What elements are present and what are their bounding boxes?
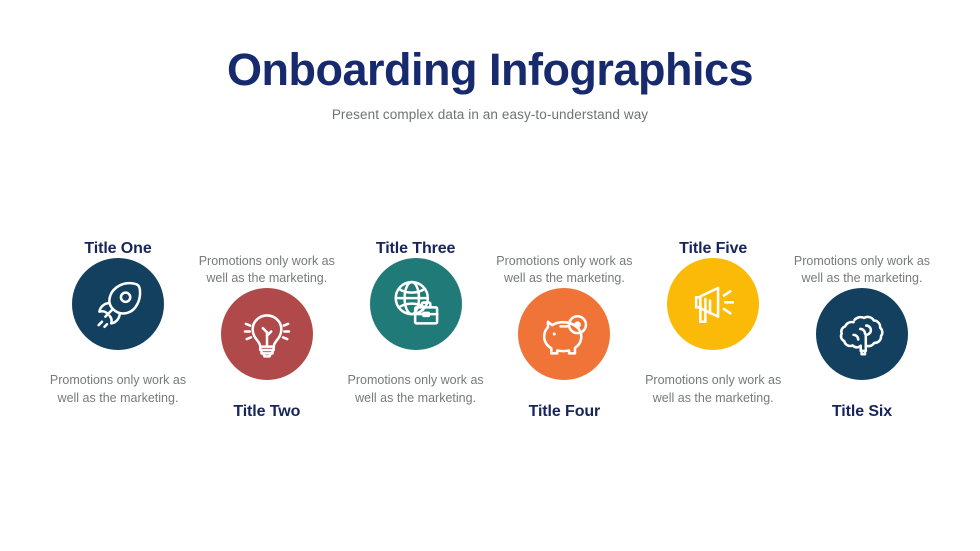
item-2-icon-circle[interactable]	[221, 288, 313, 380]
item-2-title: Title Two	[233, 402, 300, 421]
item-3-icon-circle-wrap	[346, 258, 486, 350]
item-3-top-slot: Title Three	[346, 196, 486, 258]
infographic-item-1[interactable]: Title One Promotions only work as well a…	[48, 196, 188, 486]
piggy-bank-icon	[537, 307, 591, 361]
item-4-icon-circle-wrap	[494, 288, 634, 380]
item-3-bottom-slot: Promotions only work as well as the mark…	[346, 350, 486, 454]
slide-header: Onboarding Infographics Present complex …	[0, 46, 980, 122]
item-5-bottom-slot: Promotions only work as well as the mark…	[643, 350, 783, 454]
item-3-icon-circle[interactable]	[370, 258, 462, 350]
infographic-item-6[interactable]: Promotions only work as well as the mark…	[792, 196, 932, 486]
item-5-title: Title Five	[679, 239, 747, 258]
item-2-bottom-slot: Title Two	[197, 380, 337, 484]
brain-icon	[835, 307, 889, 361]
infographic-item-2[interactable]: Promotions only work as well as the mark…	[197, 196, 337, 486]
item-6-title: Title Six	[832, 402, 892, 421]
item-4-description: Promotions only work as well as the mark…	[494, 253, 634, 289]
lightbulb-icon	[240, 307, 294, 361]
page-subtitle: Present complex data in an easy-to-under…	[0, 107, 980, 122]
rocket-icon	[91, 277, 145, 331]
item-1-description: Promotions only work as well as the mark…	[48, 372, 188, 408]
item-1-icon-circle[interactable]	[72, 258, 164, 350]
item-1-bottom-slot: Promotions only work as well as the mark…	[48, 350, 188, 454]
megaphone-icon	[686, 277, 740, 331]
item-6-description: Promotions only work as well as the mark…	[792, 253, 932, 289]
item-6-top-slot: Promotions only work as well as the mark…	[792, 196, 932, 288]
item-4-bottom-slot: Title Four	[494, 380, 634, 484]
item-6-icon-circle[interactable]	[816, 288, 908, 380]
item-1-title: Title One	[84, 239, 151, 258]
item-5-icon-circle-wrap	[643, 258, 783, 350]
item-2-icon-circle-wrap	[197, 288, 337, 380]
item-1-top-slot: Title One	[48, 196, 188, 258]
item-3-title: Title Three	[376, 239, 456, 258]
item-6-bottom-slot: Title Six	[792, 380, 932, 484]
infographic-item-4[interactable]: Promotions only work as well as the mark…	[494, 196, 634, 486]
item-1-icon-circle-wrap	[48, 258, 188, 350]
item-5-top-slot: Title Five	[643, 196, 783, 258]
item-6-icon-circle-wrap	[792, 288, 932, 380]
infographic-item-3[interactable]: Title Three Promotions only work as well…	[346, 196, 486, 486]
infographic-slide: Onboarding Infographics Present complex …	[0, 0, 980, 551]
item-5-icon-circle[interactable]	[667, 258, 759, 350]
infographic-item-5[interactable]: Title Five Promotions only work as well …	[643, 196, 783, 486]
item-2-description: Promotions only work as well as the mark…	[197, 253, 337, 289]
globe-briefcase-icon	[389, 277, 443, 331]
item-3-description: Promotions only work as well as the mark…	[346, 372, 486, 408]
infographic-items-row: Title One Promotions only work as well a…	[48, 196, 932, 486]
item-4-icon-circle[interactable]	[518, 288, 610, 380]
page-title: Onboarding Infographics	[0, 46, 980, 93]
item-2-top-slot: Promotions only work as well as the mark…	[197, 196, 337, 288]
item-4-title: Title Four	[529, 402, 601, 421]
item-4-top-slot: Promotions only work as well as the mark…	[494, 196, 634, 288]
item-5-description: Promotions only work as well as the mark…	[643, 372, 783, 408]
